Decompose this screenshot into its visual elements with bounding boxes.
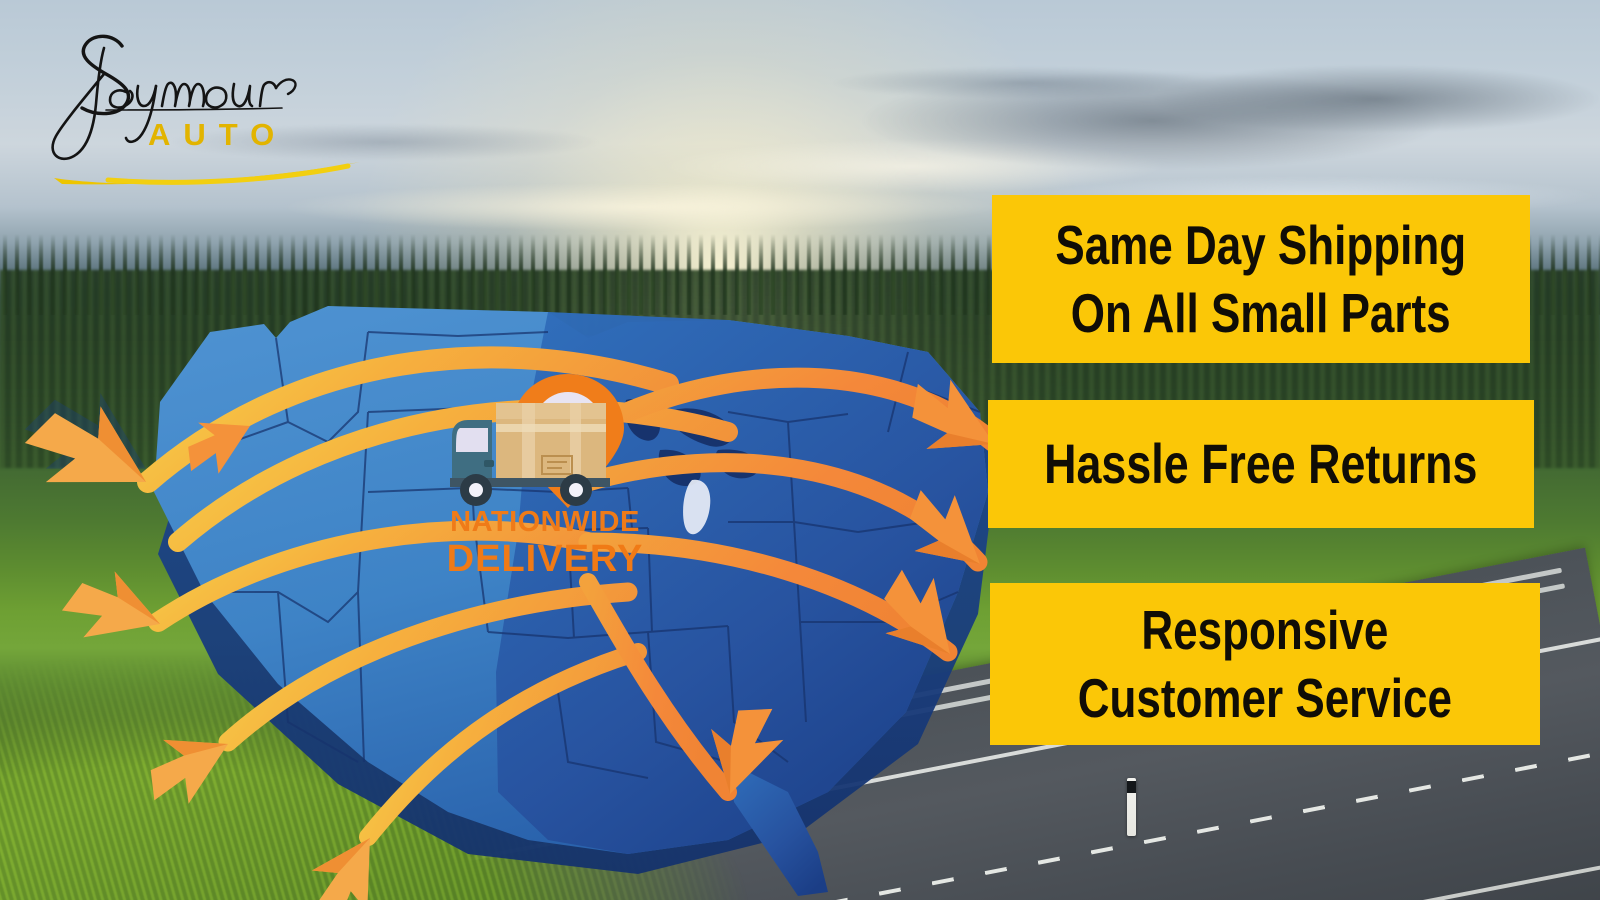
roadside-marker-post (1127, 778, 1136, 836)
nationwide-delivery-badge: NATIONWIDE DELIVERY (430, 368, 660, 583)
delivery-label-line2: DELIVERY (430, 540, 660, 578)
delivery-truck-icon (430, 368, 660, 513)
feature-banner-text: Responsive Customer Service (1078, 596, 1452, 732)
feature-banner-hassle-free-returns[interactable]: Hassle Free Returns (988, 400, 1534, 528)
brand-sub-label: AUTO (148, 117, 287, 153)
cardboard-box (496, 403, 606, 481)
delivery-label-line1: NATIONWIDE (430, 508, 660, 537)
feature-banner-responsive-customer-service[interactable]: Responsive Customer Service (990, 583, 1540, 745)
brand-logo[interactable]: AUTO (30, 18, 350, 168)
truck-cab (452, 420, 494, 481)
promo-banner-canvas: AUTO (0, 0, 1600, 900)
feature-banner-text: Same Day Shipping On All Small Parts (1056, 211, 1467, 347)
feature-banner-same-day-shipping[interactable]: Same Day Shipping On All Small Parts (992, 195, 1530, 363)
feature-banner-text: Hassle Free Returns (1044, 433, 1477, 495)
